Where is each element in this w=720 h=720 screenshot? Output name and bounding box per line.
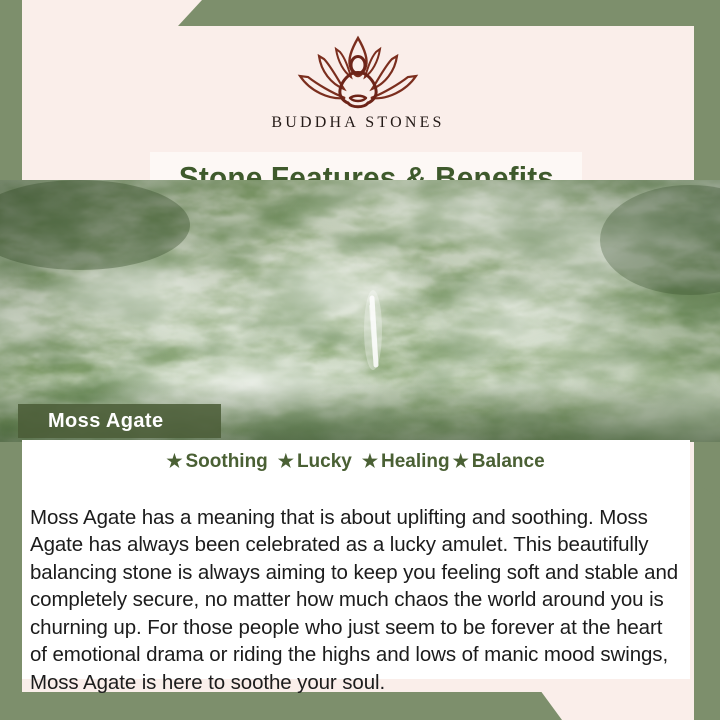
benefit-item-soothing: Soothing	[183, 451, 269, 472]
star-icon: ★	[165, 451, 183, 471]
frame-top-bar	[0, 0, 720, 26]
lotus-meditation-icon	[288, 32, 428, 116]
benefit-item-lucky: Lucky	[295, 451, 354, 472]
benefit-item-healing: Healing	[379, 451, 452, 472]
brand-logo-block: BUDDHA STONES	[22, 26, 694, 132]
benefit-list: ★Soothing★Lucky★Healing★Balance	[22, 451, 690, 473]
stone-name: Moss Agate	[18, 410, 164, 433]
stone-photo	[0, 180, 720, 442]
stone-name-band: Moss Agate	[18, 404, 221, 438]
star-icon: ★	[452, 451, 470, 471]
description-panel: ★Soothing★Lucky★Healing★Balance Moss Aga…	[22, 440, 690, 679]
moss-agate-texture	[0, 180, 720, 442]
stone-description: Moss Agate has a meaning that is about u…	[30, 504, 682, 697]
infographic-page: BUDDHA STONES Stone Features & Benefits	[0, 0, 720, 720]
brand-name: BUDDHA STONES	[22, 114, 694, 132]
star-icon: ★	[361, 451, 379, 471]
benefit-item-balance: Balance	[470, 451, 547, 472]
star-icon: ★	[277, 451, 295, 471]
